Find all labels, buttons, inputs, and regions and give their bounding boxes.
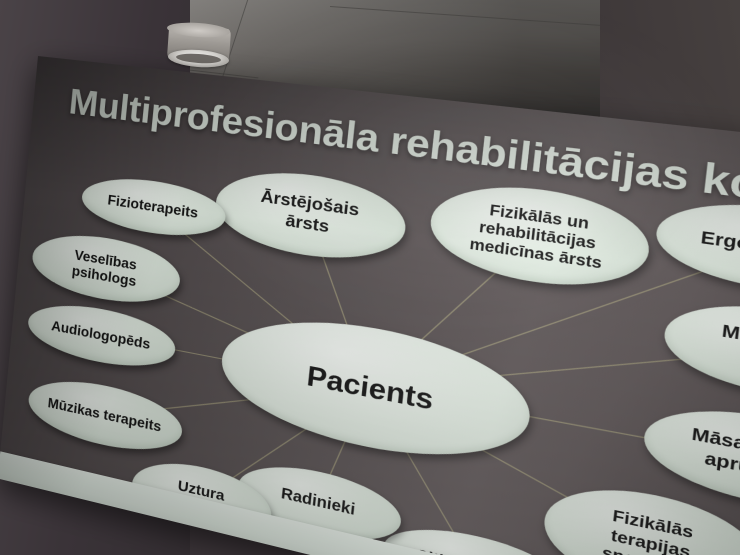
diagram-node-label: Fizikālāsterapijasspeciālisti — [601, 505, 701, 555]
diagram-node-label-line: Ergoterapeits — [700, 228, 740, 269]
diagram-node-label-line: Radinieki — [280, 486, 356, 521]
diagram-node-label: Fizikālās unrehabilitācijasmedicīnas ārs… — [469, 199, 607, 273]
diagram-node-label: Ārstējošaisārsts — [258, 188, 361, 243]
diagram-node-label-line: Fizioterapeits — [107, 192, 199, 222]
projection-screen: Multiprofesionāla rehabilitācijas komand… — [0, 56, 740, 555]
diagram-node-label-line: māsa — [718, 342, 740, 381]
diagram-node-label: Radinieki — [280, 486, 356, 521]
diagram-node-label: Medicīnasmāsa — [718, 321, 740, 381]
slide: Multiprofesionāla rehabilitācijas komand… — [0, 56, 740, 555]
projection-screen-area: Multiprofesionāla rehabilitācijas komand… — [0, 0, 740, 555]
diagram-node-label: Ergoterapeits — [700, 228, 740, 269]
diagram-node-label: Pacients — [305, 359, 435, 417]
diagram-node-label: Veselībaspsihologs — [71, 247, 138, 290]
diagram-node-label: Audiologopēds — [51, 318, 151, 353]
diagram-node-label-line: Audiologopēds — [51, 318, 151, 353]
diagram-node-label-line: Mūzikas terapeits — [47, 395, 162, 436]
diagram-node-label: Fizioterapeits — [107, 192, 199, 222]
room-scene: Multiprofesionāla rehabilitācijas komand… — [0, 0, 740, 555]
diagram-node-label: Mūzikas terapeits — [47, 395, 162, 436]
